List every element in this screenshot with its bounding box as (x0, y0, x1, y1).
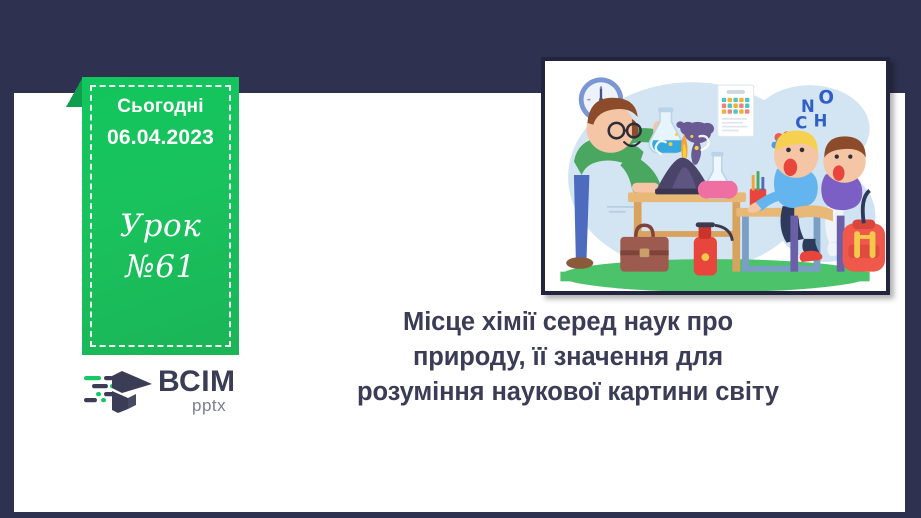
dashed-border (90, 85, 231, 347)
svg-text:C: C (795, 114, 807, 133)
graduation-cap-icon (82, 367, 156, 413)
logo-main-text: ВСІМ (158, 367, 236, 397)
card-fold-corner (66, 77, 83, 107)
date-lesson-card: Сьогодні 06.04.2023 Урок №61 (82, 77, 239, 355)
slide-canvas: Сьогодні 06.04.2023 Урок №61 (0, 0, 921, 518)
logo-sub-text: pptx (192, 397, 236, 414)
title-line-1: Місце хімії серед наук про (268, 305, 868, 340)
title-line-2: природу, її значення для (268, 340, 868, 375)
page-title: Місце хімії серед наук про природу, її з… (268, 305, 868, 411)
svg-text:H: H (814, 112, 828, 131)
brand-logo: ВСІМ pptx (82, 364, 247, 416)
logo-wordmark: ВСІМ pptx (158, 367, 236, 414)
title-line-3: розуміння наукової картини світу (268, 375, 868, 410)
svg-text:O: O (818, 88, 834, 109)
chemistry-classroom-illustration: N O C H (541, 57, 890, 295)
